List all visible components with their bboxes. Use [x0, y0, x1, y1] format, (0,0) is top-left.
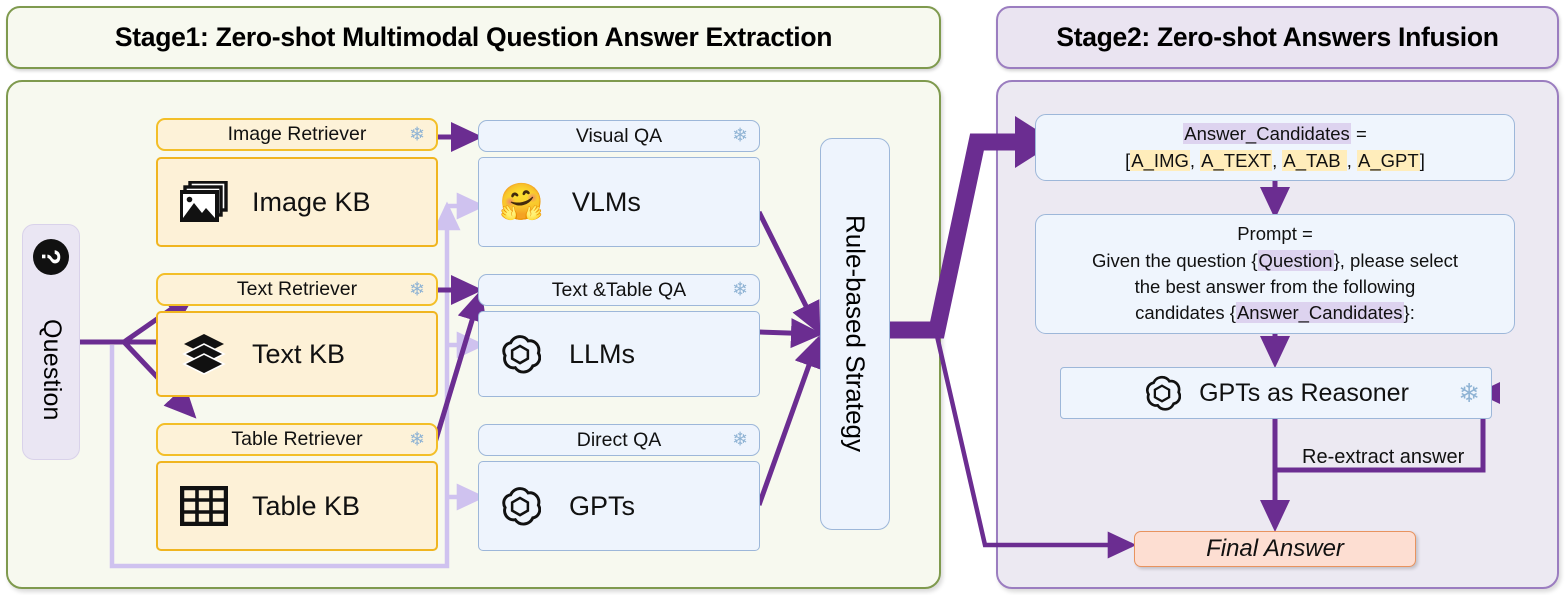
answer-candidates-title: Answer_Candidates [1183, 123, 1351, 144]
text-retriever-head[interactable]: Text Retriever ❄ [156, 273, 438, 306]
final-answer-label: Final Answer [1206, 535, 1344, 563]
openai-icon [499, 333, 541, 375]
answer-candidates-box[interactable]: Answer_Candidates = [A_IMG, A_TEXT, A_TA… [1035, 114, 1515, 181]
prompt-line3-a: candidates { [1135, 302, 1236, 323]
bracket-close: ] [1420, 150, 1425, 171]
stage2-header: Stage2: Zero-shot Answers Infusion [996, 6, 1559, 69]
snowflake-frozen-icon: ❄ [732, 431, 748, 450]
snowflake-frozen-icon: ❄ [409, 280, 425, 299]
gpts-as-reasoner-label: GPTs as Reasoner [1199, 379, 1409, 408]
snowflake-frozen-icon: ❄ [732, 127, 748, 146]
prompt-question-var: Question [1258, 250, 1334, 271]
vlms-label: VLMs [572, 187, 641, 218]
table-kb-label: Table KB [252, 491, 360, 522]
gpts-as-reasoner-box[interactable]: GPTs as Reasoner ❄ [1060, 367, 1492, 419]
question-label: Question [36, 285, 66, 455]
books-stack-icon [180, 332, 228, 376]
text-table-qa-head[interactable]: Text &Table QA ❄ [478, 274, 760, 306]
image-kb-box[interactable]: Image KB [156, 157, 438, 247]
direct-qa-head[interactable]: Direct QA ❄ [478, 424, 760, 456]
snowflake-frozen-icon: ❄ [1458, 380, 1480, 406]
visual-qa-label: Visual QA [576, 125, 662, 148]
question-box[interactable]: ? Question [22, 224, 80, 460]
text-kb-box[interactable]: Text KB [156, 311, 438, 397]
candidate-a-gpt: A_GPT [1357, 150, 1420, 171]
openai-icon [499, 485, 541, 527]
prompt-line3: candidates {Answer_Candidates}: [1135, 300, 1415, 326]
image-retriever-label: Image Retriever [228, 123, 367, 146]
huggingface-icon: 🤗 [499, 181, 544, 223]
rule-based-strategy-label: Rule-based Strategy [821, 139, 889, 529]
llms-box[interactable]: LLMs [478, 311, 760, 397]
final-answer-box[interactable]: Final Answer [1134, 531, 1416, 567]
stage2-header-text: Stage2: Zero-shot Answers Infusion [1056, 22, 1498, 53]
prompt-line2: the best answer from the following [1135, 274, 1416, 300]
gpts-box[interactable]: GPTs [478, 461, 760, 551]
rule-based-strategy-box[interactable]: Rule-based Strategy [820, 138, 890, 530]
llms-label: LLMs [569, 339, 635, 370]
re-extract-answer-label: Re-extract answer [1302, 446, 1464, 469]
prompt-candidates-var: Answer_Candidates [1236, 302, 1404, 323]
vlms-box[interactable]: 🤗 VLMs [478, 157, 760, 247]
visual-qa-head[interactable]: Visual QA ❄ [478, 120, 760, 152]
direct-qa-label: Direct QA [577, 429, 662, 452]
image-stack-icon [180, 181, 228, 223]
snowflake-frozen-icon: ❄ [409, 430, 425, 449]
answer-candidates-line2: [A_IMG, A_TEXT, A_TAB , A_GPT] [1125, 148, 1425, 174]
text-retriever-label: Text Retriever [237, 278, 357, 301]
snowflake-frozen-icon: ❄ [732, 281, 748, 300]
stage1-header-text: Stage1: Zero-shot Multimodal Question An… [115, 22, 832, 53]
prompt-title: Prompt = [1237, 221, 1313, 247]
snowflake-frozen-icon: ❄ [409, 125, 425, 144]
image-kb-label: Image KB [252, 187, 371, 218]
candidate-a-img: A_IMG [1130, 150, 1190, 171]
table-grid-icon [180, 486, 228, 526]
candidate-a-text: A_TEXT [1200, 150, 1272, 171]
answer-candidates-equals: = [1351, 123, 1367, 144]
prompt-box[interactable]: Prompt = Given the question {Question}, … [1035, 214, 1515, 334]
prompt-line1-a: Given the question { [1092, 250, 1258, 271]
stage1-header: Stage1: Zero-shot Multimodal Question An… [6, 6, 941, 69]
text-kb-label: Text KB [252, 339, 345, 370]
image-retriever-head[interactable]: Image Retriever ❄ [156, 118, 438, 151]
answer-candidates-line1: Answer_Candidates = [1183, 121, 1367, 147]
openai-icon [1143, 374, 1181, 412]
table-retriever-head[interactable]: Table Retriever ❄ [156, 423, 438, 456]
candidate-a-tab: A_TAB [1282, 150, 1346, 171]
question-mark-icon: ? [33, 239, 69, 275]
prompt-line1: Given the question {Question}, please se… [1092, 248, 1458, 274]
prompt-line3-b: }: [1404, 302, 1415, 323]
table-kb-box[interactable]: Table KB [156, 461, 438, 551]
table-retriever-label: Table Retriever [231, 428, 362, 451]
text-table-qa-label: Text &Table QA [552, 279, 686, 302]
gpts-label: GPTs [569, 491, 635, 522]
stage1-panel [6, 80, 941, 589]
prompt-line1-b: }, please select [1334, 250, 1458, 271]
